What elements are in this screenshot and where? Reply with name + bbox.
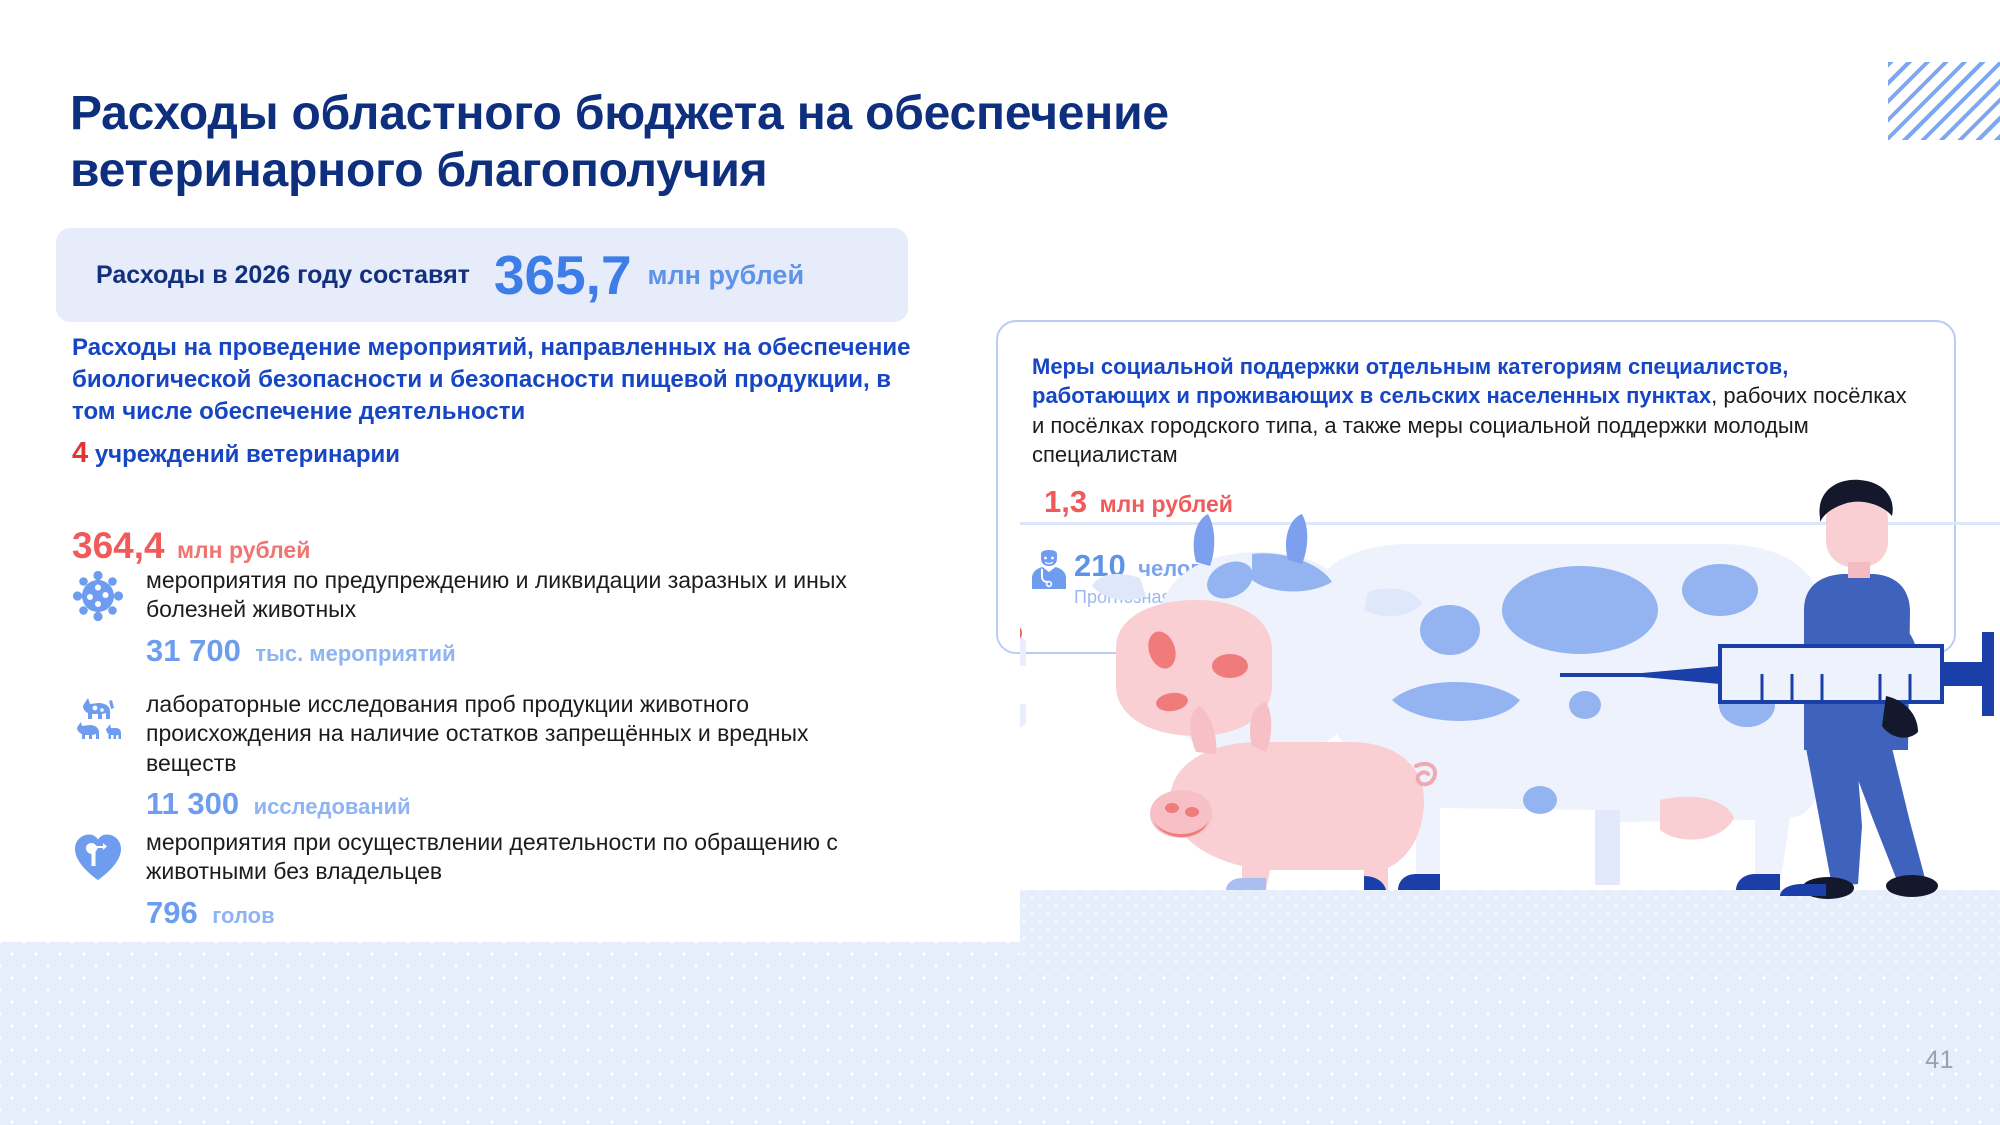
measure-metric: 11 300 исследований [146,786,902,822]
virus-icon [72,566,146,622]
support-card-text-bold: Меры социальной поддержки отдельным кате… [1032,354,1788,408]
measure-row: мероприятия по предупреждению и ликвидац… [72,566,902,669]
livestock-icon [72,690,146,750]
measure-row: лабораторные исследования проб продукции… [72,690,902,822]
slide-root: 41 Расходы областного бюджета на обеспеч… [0,0,2000,1125]
measure-metric-value: 11 300 [146,786,239,821]
headline-stat-pill: Расходы в 2026 году составят 365,7 млн р… [56,228,908,322]
measure-row: мероприятия при осуществлении деятельнос… [72,828,902,931]
left-amount: 364,4 млн рублей [72,525,310,567]
support-card-text: Меры социальной поддержки отдельным кате… [1032,352,1922,470]
measure-metric-value: 796 [146,895,198,930]
page-title: Расходы областного бюджета на обеспечени… [70,86,1500,199]
heart-dog-icon [72,828,146,882]
headline-stat-unit: млн рублей [648,260,805,291]
measure-text: лабораторные исследования проб продукции… [146,690,902,778]
measure-body: мероприятия при осуществлении деятельнос… [146,828,902,931]
female-vet-illustration [1020,504,1026,907]
veterinary-illustration [1020,470,2000,970]
measure-metric-value: 31 700 [146,633,241,668]
headline-stat-label: Расходы в 2026 году составят [96,261,470,290]
measure-metric: 31 700 тыс. мероприятий [146,633,902,669]
diagonal-stripes-decoration [1888,62,2000,140]
institution-count: 4 [72,437,88,469]
description-block: Расходы на проведение мероприятий, напра… [72,332,922,472]
measure-text: мероприятия при осуществлении деятельнос… [146,828,902,887]
description-text: Расходы на проведение мероприятий, напра… [72,334,911,425]
page-number: 41 [1925,1046,1954,1075]
measure-metric-unit: голов [212,903,274,928]
measure-metric: 796 голов [146,895,902,931]
measure-metric-unit: исследований [254,794,411,819]
left-amount-value: 364,4 [72,525,165,566]
measure-text: мероприятия по предупреждению и ликвидац… [146,566,902,625]
measure-body: лабораторные исследования проб продукции… [146,690,902,822]
headline-stat-value: 365,7 [494,248,632,303]
measure-metric-unit: тыс. мероприятий [255,641,455,666]
institution-count-label: учреждений ветеринарии [95,441,400,468]
measure-body: мероприятия по предупреждению и ликвидац… [146,566,902,669]
left-amount-unit: млн рублей [177,537,310,563]
